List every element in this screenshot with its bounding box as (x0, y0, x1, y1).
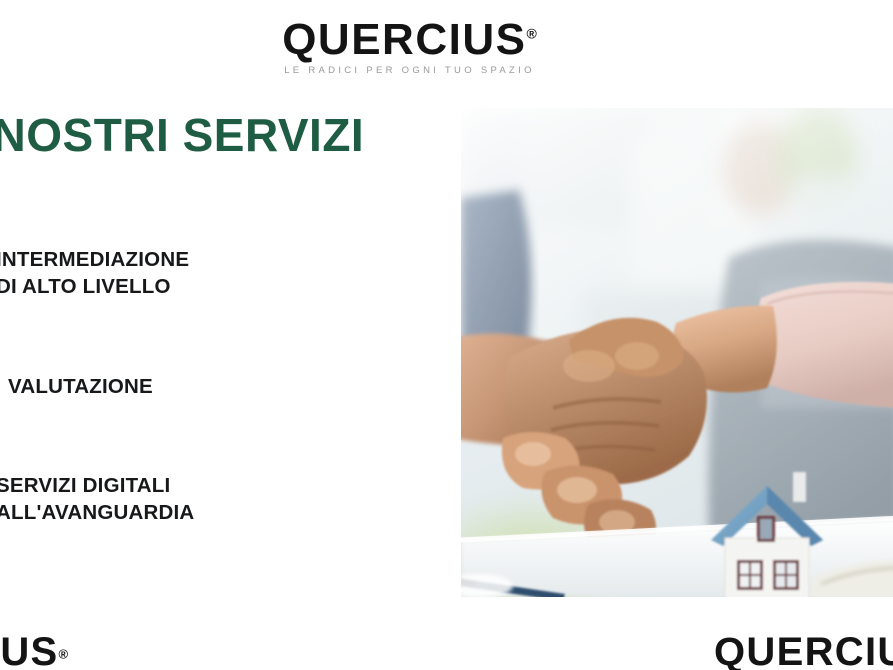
brand-logo: QUERCIUS® LE RADICI PER OGNI TUO SPAZIO (0, 18, 893, 77)
next-slide-brand-name: QUERCIUS (0, 632, 59, 670)
list-item: INTERMEDIAZIONE DI ALTO LIVELLO (0, 246, 326, 301)
list-item: SERVIZI DIGITALI ALL'AVANGUARDIA (0, 472, 326, 527)
brand-tagline: LE RADICI PER OGNI TUO SPAZIO (282, 66, 537, 76)
page-title: I NOSTRI SERVIZI (0, 108, 364, 162)
registered-trademark-icon: ® (526, 25, 536, 41)
next-slide-brand-name: QUERCIUS (714, 632, 893, 670)
list-item: VALUTAZIONE (0, 373, 326, 400)
service-label-servizi-digitali: SERVIZI DIGITALI ALL'AVANGUARDIA (0, 472, 326, 527)
service-label-intermediazione: INTERMEDIAZIONE DI ALTO LIVELLO (0, 246, 326, 301)
next-slide-logo-left-fragment: QUERCIUS® LE RADICI PER OGNI TUO SPAZIO (0, 632, 68, 670)
next-slide-registered-icon: ® (59, 647, 69, 662)
services-list: INTERMEDIAZIONE DI ALTO LIVELLO VALUTAZI… (0, 246, 326, 526)
brand-logo-wordmark: QUERCIUS® LE RADICI PER OGNI TUO SPAZIO (282, 18, 537, 76)
next-slide-logo-right-fragment: QUERCIUS® LE RADICI PER OGNI TUO SPAZIO (714, 632, 893, 670)
brand-name-text: QUERCIUS (282, 15, 526, 64)
service-label-valutazione: VALUTAZIONE (0, 373, 326, 400)
handshake-photo-illustration (461, 108, 893, 597)
presentation-slide: QUERCIUS® LE RADICI PER OGNI TUO SPAZIO … (0, 0, 893, 632)
handshake-photo (461, 108, 893, 597)
